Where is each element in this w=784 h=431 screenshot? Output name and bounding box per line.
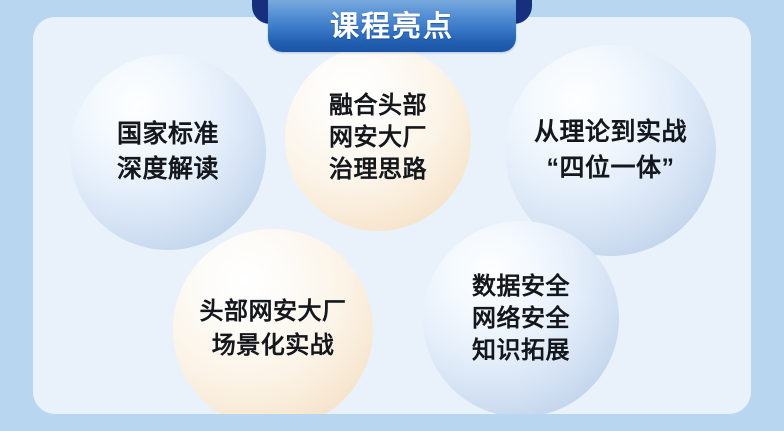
highlight-line: 从理论到实战 (534, 115, 687, 151)
highlight-line: 治理思路 (329, 154, 427, 186)
poster-root: 国家标准 深度解读 融合头部 网安大厂 治理思路 从理论到实战 “四位一体” 头… (0, 0, 784, 431)
highlight-line: 深度解读 (117, 152, 219, 188)
highlight-bubble-knowledge-extension[interactable]: 数据安全 网络安全 知识拓展 (423, 221, 619, 414)
highlight-line: 知识拓展 (472, 335, 570, 367)
highlight-line: 网安大厂 (329, 122, 427, 154)
highlight-line: 融合头部 (329, 90, 427, 122)
highlight-bubble-vendor-governance[interactable]: 融合头部 网安大厂 治理思路 (285, 45, 471, 231)
page-title: 课程亮点 (330, 11, 454, 42)
highlight-line: 国家标准 (117, 117, 219, 153)
highlight-bubble-national-standard[interactable]: 国家标准 深度解读 (70, 54, 266, 250)
highlight-line: 场景化实战 (212, 329, 335, 363)
highlight-line: 数据安全 (472, 271, 570, 303)
content-card: 国家标准 深度解读 融合头部 网安大厂 治理思路 从理论到实战 “四位一体” 头… (33, 17, 751, 414)
highlight-line: 网络安全 (472, 303, 570, 335)
highlight-line: 头部网安大厂 (200, 295, 347, 329)
highlight-bubble-scenario-practice[interactable]: 头部网安大厂 场景化实战 (173, 229, 373, 414)
title-banner: 课程亮点 (268, 0, 516, 52)
highlight-line: “四位一体” (546, 151, 674, 187)
